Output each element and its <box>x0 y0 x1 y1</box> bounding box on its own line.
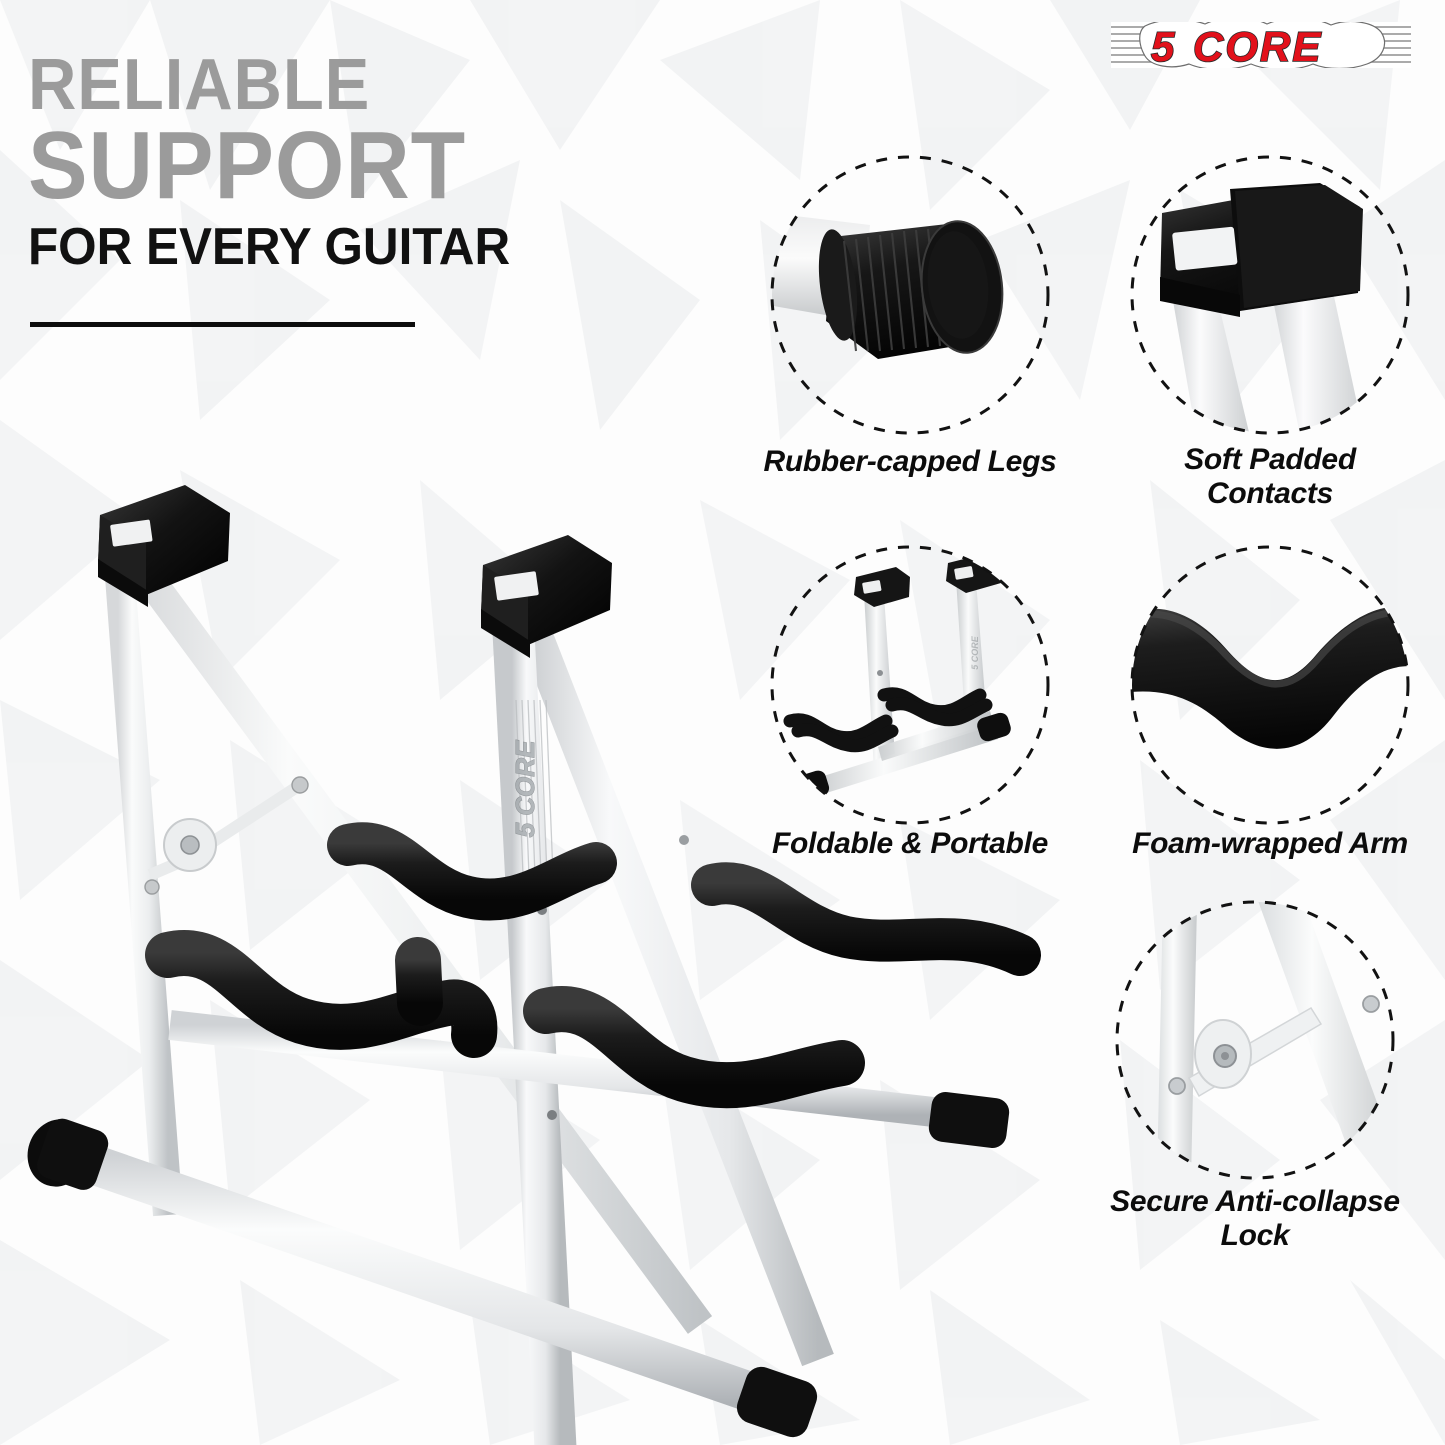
feature-foam-wrapped-arm: Foam-wrapped Arm <box>1120 535 1420 875</box>
feature-rubber-capped-legs: Rubber-capped Legs <box>760 145 1060 505</box>
brand-word: CORE <box>1193 23 1322 70</box>
svg-text:5 CORE: 5 CORE <box>510 740 540 837</box>
feature-label: Secure Anti-collapse Lock <box>1050 1185 1445 1252</box>
brand-digit: 5 <box>1151 23 1175 70</box>
foam-nub <box>418 960 420 1003</box>
foam-arm-icon <box>1120 535 1420 835</box>
headline-block: RELIABLE SUPPORT FOR EVERY GUITAR <box>28 52 668 273</box>
product-infographic: RELIABLE SUPPORT FOR EVERY GUITAR <box>0 0 1445 1445</box>
svg-text:5 CORE: 5 CORE <box>970 635 980 670</box>
padded-top-cap-icon <box>1120 145 1420 445</box>
hinge-lock-icon <box>1105 890 1405 1190</box>
feature-soft-padded-contacts: Soft Padded Contacts <box>1120 145 1420 505</box>
brand-logo: 5 CORE <box>1101 14 1421 76</box>
headline-line-3: FOR EVERY GUITAR <box>28 221 636 273</box>
feature-label: Soft Padded Contacts <box>1075 443 1445 510</box>
headline-line-1: RELIABLE <box>28 52 623 118</box>
post-screw-hole <box>679 835 689 845</box>
headline-line-2: SUPPORT <box>28 120 623 211</box>
rubber-foot-cap-rear <box>927 1090 1011 1149</box>
feature-label: Rubber-capped Legs <box>710 445 1110 479</box>
post-screw-hole <box>547 1110 557 1120</box>
feature-label: Foldable & Portable <box>712 827 1108 861</box>
feature-foldable-portable: 5 CORE Foldable & Portable <box>760 535 1060 875</box>
rubber-foot-cap-icon <box>760 145 1060 445</box>
folded-stand-icon: 5 CORE <box>760 535 1060 835</box>
feature-secure-anti-collapse-lock: Secure Anti-collapse Lock <box>1105 890 1405 1250</box>
left-hinge-lock <box>145 777 308 894</box>
headline-divider <box>30 322 415 327</box>
rear-foam-yoke-arm-right <box>712 883 1020 955</box>
feature-label: Foam-wrapped Arm <box>1072 827 1445 861</box>
left-front-leg <box>118 550 168 1215</box>
